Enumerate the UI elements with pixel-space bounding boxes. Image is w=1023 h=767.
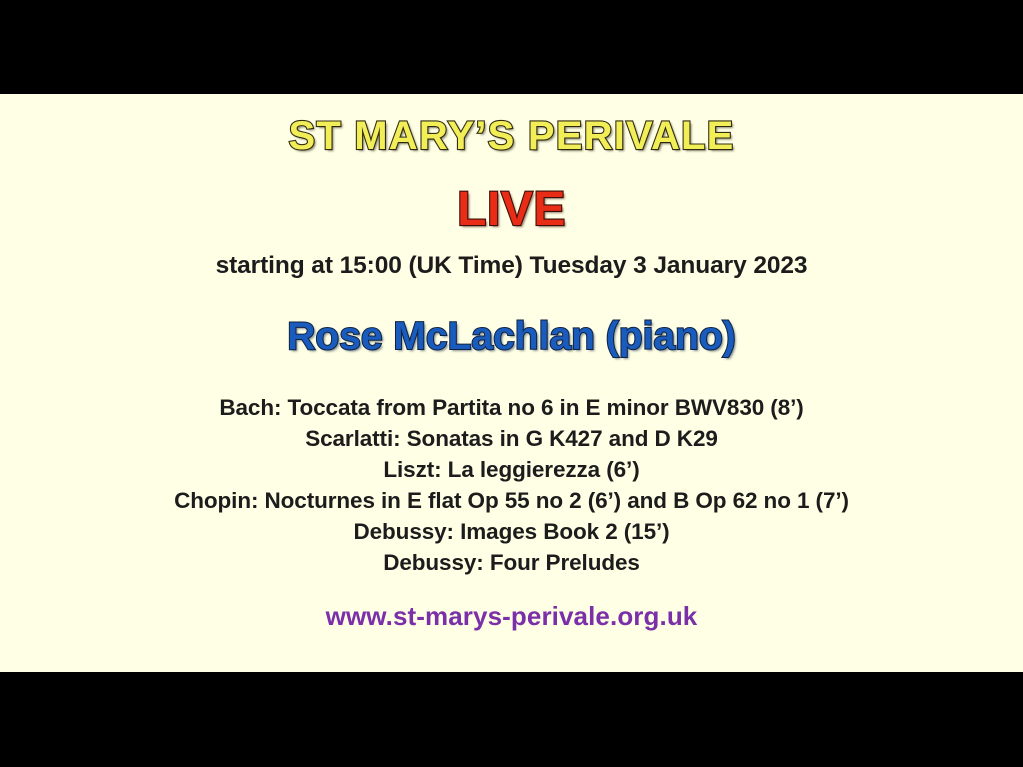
letterbox-bar-bottom [0,672,1023,767]
programme-item: Scarlatti: Sonatas in G K427 and D K29 [0,423,1023,454]
programme-item: Chopin: Nocturnes in E flat Op 55 no 2 (… [0,485,1023,516]
video-poster-frame: ST MARY’S PERIVALE LIVE starting at 15:0… [0,0,1023,767]
venue-title: ST MARY’S PERIVALE [0,114,1023,159]
programme-item: Debussy: Four Preludes [0,547,1023,578]
programme-item: Bach: Toccata from Partita no 6 in E min… [0,392,1023,423]
programme-list: Bach: Toccata from Partita no 6 in E min… [0,392,1023,578]
start-time-text: starting at 15:00 (UK Time) Tuesday 3 Ja… [0,252,1023,280]
concert-announcement-slide: ST MARY’S PERIVALE LIVE starting at 15:0… [0,94,1023,672]
letterbox-bar-top [0,0,1023,94]
programme-item: Debussy: Images Book 2 (15’) [0,516,1023,547]
performer-name: Rose McLachlan (piano) [0,315,1023,359]
website-url[interactable]: www.st-marys-perivale.org.uk [0,601,1023,632]
programme-item: Liszt: La leggierezza (6’) [0,454,1023,485]
live-badge: LIVE [0,182,1023,237]
